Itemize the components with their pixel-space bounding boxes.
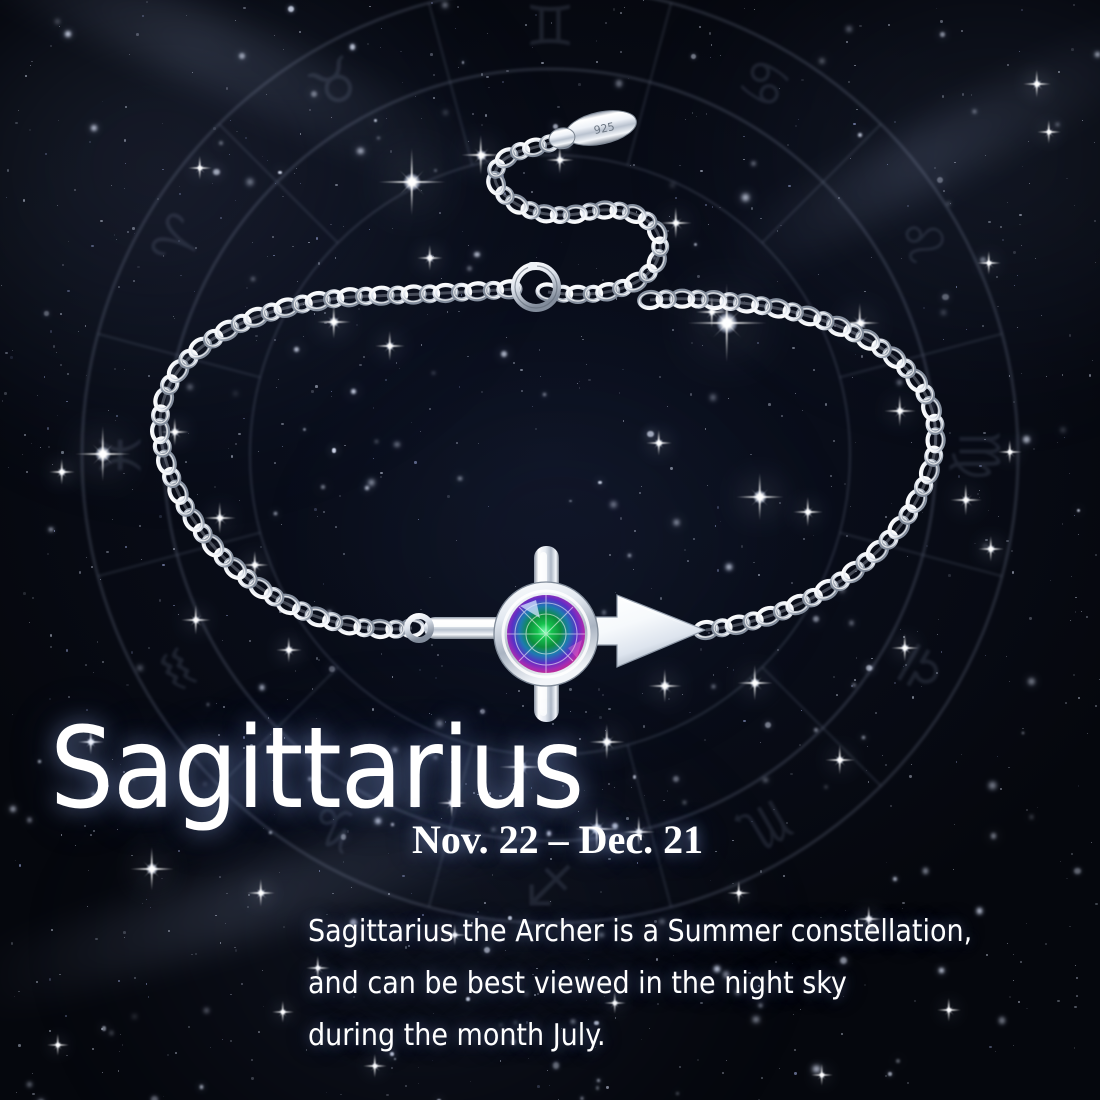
star xyxy=(394,442,400,448)
star xyxy=(541,62,544,65)
star xyxy=(60,470,62,472)
star xyxy=(1022,728,1023,729)
star xyxy=(547,1070,548,1071)
chain-link xyxy=(533,205,556,224)
star xyxy=(369,480,373,484)
star xyxy=(936,672,938,674)
chain-link xyxy=(354,619,374,636)
star xyxy=(705,204,707,206)
star xyxy=(50,646,51,647)
star-sparkle xyxy=(648,669,682,703)
star xyxy=(118,1070,120,1072)
star xyxy=(402,82,403,83)
star xyxy=(57,415,58,416)
star xyxy=(110,1031,114,1035)
star xyxy=(717,569,719,571)
chain-link xyxy=(920,396,943,422)
star xyxy=(620,12,622,14)
star xyxy=(744,8,745,9)
star-sparkle xyxy=(375,331,405,361)
star xyxy=(380,476,382,478)
star xyxy=(95,938,97,940)
star xyxy=(787,311,788,312)
star xyxy=(344,445,346,447)
star xyxy=(314,508,317,511)
star xyxy=(263,1006,264,1007)
star xyxy=(188,433,189,434)
star-sparkle xyxy=(727,881,751,905)
star xyxy=(300,183,301,184)
star xyxy=(131,855,132,856)
star xyxy=(222,1039,223,1040)
star xyxy=(60,364,62,366)
star xyxy=(235,20,236,21)
star-sparkle xyxy=(811,1064,833,1086)
chain-link xyxy=(212,546,235,569)
chain-link xyxy=(623,270,649,294)
star xyxy=(1071,48,1074,51)
star xyxy=(136,33,139,36)
star xyxy=(175,1052,177,1054)
star xyxy=(358,308,360,310)
star xyxy=(894,121,896,123)
star xyxy=(980,257,986,263)
star xyxy=(251,1077,253,1079)
star-sparkle xyxy=(977,251,1001,275)
star xyxy=(331,117,332,118)
star xyxy=(795,393,796,394)
star xyxy=(506,337,507,338)
star xyxy=(692,112,694,114)
star xyxy=(727,667,729,669)
chain-link xyxy=(389,287,407,302)
star xyxy=(1022,732,1024,734)
chain-link xyxy=(880,345,908,372)
star xyxy=(515,586,516,587)
star xyxy=(631,787,632,788)
star xyxy=(751,207,753,209)
star xyxy=(129,54,130,55)
star xyxy=(596,40,598,42)
star xyxy=(75,845,76,846)
star xyxy=(37,395,38,396)
star xyxy=(276,387,277,388)
star xyxy=(862,736,866,740)
star xyxy=(532,47,533,48)
star xyxy=(985,539,988,542)
star xyxy=(485,114,487,116)
star xyxy=(696,116,697,117)
star xyxy=(18,110,19,111)
star xyxy=(984,545,987,548)
star xyxy=(127,231,129,233)
star xyxy=(1086,616,1088,618)
star xyxy=(750,454,752,456)
star xyxy=(264,319,265,320)
star xyxy=(518,675,519,676)
star xyxy=(112,519,114,521)
star xyxy=(484,902,486,904)
star xyxy=(467,266,472,271)
chain-link xyxy=(522,137,546,158)
star xyxy=(643,0,644,1)
star xyxy=(938,619,940,621)
star xyxy=(124,188,125,189)
star xyxy=(722,1072,724,1074)
star xyxy=(979,490,980,491)
star xyxy=(159,599,161,601)
star xyxy=(943,190,945,192)
chain-link xyxy=(580,203,600,220)
star xyxy=(185,461,187,463)
star xyxy=(818,274,819,275)
chain-link xyxy=(336,615,361,636)
star xyxy=(434,169,437,172)
star xyxy=(890,805,892,807)
star xyxy=(399,368,400,369)
star xyxy=(1006,656,1007,657)
zodiac-glyph-pisces: ♓ xyxy=(90,430,155,480)
star-sparkle xyxy=(696,296,728,328)
star xyxy=(991,833,996,838)
star xyxy=(691,342,693,344)
star xyxy=(1012,571,1014,573)
chain-link xyxy=(152,386,175,412)
chain-link xyxy=(637,262,659,284)
star xyxy=(503,658,505,660)
star xyxy=(435,677,437,679)
star xyxy=(1092,360,1093,361)
star xyxy=(641,486,642,487)
star xyxy=(28,818,32,822)
star xyxy=(871,257,872,258)
chain-link xyxy=(180,507,206,535)
chain-link xyxy=(784,592,811,616)
star xyxy=(754,9,755,10)
star xyxy=(768,403,771,406)
star xyxy=(885,1075,887,1077)
star xyxy=(1035,258,1036,259)
star xyxy=(586,364,587,365)
star xyxy=(871,658,873,660)
chain-link xyxy=(839,558,867,585)
star xyxy=(596,61,598,63)
chain-link xyxy=(191,521,214,544)
star xyxy=(226,615,228,617)
star xyxy=(274,462,276,464)
star xyxy=(377,137,380,140)
star xyxy=(459,386,460,387)
star xyxy=(388,853,389,854)
star xyxy=(1074,1006,1076,1008)
star xyxy=(162,564,164,566)
star xyxy=(802,410,804,412)
star xyxy=(1082,120,1083,121)
star xyxy=(332,448,337,453)
star xyxy=(504,192,506,194)
star xyxy=(620,517,622,519)
star xyxy=(311,91,317,97)
star xyxy=(988,510,989,511)
star xyxy=(850,506,851,507)
star-sparkle xyxy=(130,847,174,891)
star xyxy=(432,372,435,375)
star xyxy=(18,1044,21,1047)
star xyxy=(868,781,869,782)
star xyxy=(550,901,551,902)
star xyxy=(875,712,877,714)
star-sparkle xyxy=(840,303,880,343)
star xyxy=(1019,51,1020,52)
star xyxy=(982,325,984,327)
star xyxy=(90,834,92,836)
star xyxy=(885,764,887,766)
star xyxy=(283,49,284,50)
star xyxy=(282,196,283,197)
chain-link xyxy=(554,286,572,301)
star xyxy=(855,354,856,355)
star xyxy=(230,994,232,996)
star xyxy=(779,1068,780,1069)
star xyxy=(414,461,416,463)
star xyxy=(997,306,998,307)
star xyxy=(297,281,298,282)
star xyxy=(134,977,136,979)
star xyxy=(461,294,463,296)
star xyxy=(54,530,55,531)
star xyxy=(67,373,69,375)
star xyxy=(173,316,174,317)
star xyxy=(720,521,721,522)
star xyxy=(32,1073,33,1074)
star xyxy=(92,1048,94,1050)
star xyxy=(119,1051,120,1052)
star xyxy=(611,502,616,507)
star xyxy=(114,234,115,235)
chain-link xyxy=(453,284,472,300)
chain-link xyxy=(612,279,633,298)
star xyxy=(709,32,711,34)
star xyxy=(323,583,325,585)
star xyxy=(674,520,679,525)
star xyxy=(389,627,391,629)
star xyxy=(351,389,356,394)
star xyxy=(792,347,795,350)
star xyxy=(798,119,799,120)
star xyxy=(57,205,58,206)
star xyxy=(673,776,679,782)
star-sparkle xyxy=(998,440,1022,464)
star xyxy=(934,167,936,169)
star xyxy=(122,1044,124,1046)
star xyxy=(760,218,761,219)
zodiac-glyph-leo: ♌ xyxy=(880,203,961,279)
star xyxy=(487,33,488,34)
star xyxy=(598,688,601,691)
star xyxy=(50,330,52,332)
star xyxy=(226,87,228,89)
star xyxy=(766,608,768,610)
star xyxy=(235,443,237,445)
star xyxy=(783,875,785,877)
star xyxy=(1057,442,1058,443)
star xyxy=(598,481,602,485)
chain-link xyxy=(897,503,919,526)
star xyxy=(151,1096,158,1100)
star xyxy=(318,262,320,264)
star xyxy=(1091,842,1092,843)
star xyxy=(1075,597,1076,598)
star xyxy=(330,224,332,226)
star xyxy=(1095,52,1100,57)
star xyxy=(356,324,358,326)
star xyxy=(162,123,164,125)
chain-link xyxy=(466,282,489,300)
star xyxy=(481,124,483,126)
star xyxy=(194,291,195,292)
star xyxy=(163,1096,164,1097)
star xyxy=(710,57,711,58)
star xyxy=(715,525,717,527)
star xyxy=(813,369,815,371)
star xyxy=(671,183,674,186)
chain-link xyxy=(155,450,177,476)
star xyxy=(385,379,387,381)
chain-link xyxy=(870,337,893,359)
star-sparkle xyxy=(646,430,672,456)
star xyxy=(795,125,797,127)
star xyxy=(279,610,281,612)
star-sparkle xyxy=(461,135,501,175)
chain-link xyxy=(537,282,560,301)
chain-link xyxy=(925,446,943,466)
star xyxy=(1076,977,1078,979)
star xyxy=(124,139,127,142)
star xyxy=(520,369,522,371)
star xyxy=(779,502,781,504)
star xyxy=(419,669,421,671)
star xyxy=(633,569,634,570)
star-sparkle xyxy=(272,1001,294,1023)
star-sparkle xyxy=(978,536,1004,562)
chain-link xyxy=(926,429,944,452)
star xyxy=(501,351,507,357)
star xyxy=(579,387,581,389)
star xyxy=(947,202,950,205)
star xyxy=(148,375,150,377)
star xyxy=(241,983,243,985)
star xyxy=(602,610,607,615)
page-title: Sagittarius xyxy=(50,713,583,825)
chain-link xyxy=(304,606,330,629)
star xyxy=(576,135,578,137)
star xyxy=(235,200,236,201)
star xyxy=(429,577,431,579)
star xyxy=(605,22,607,24)
star xyxy=(937,634,938,635)
star xyxy=(833,676,835,678)
star xyxy=(523,172,525,174)
star xyxy=(672,329,674,331)
star xyxy=(852,377,853,378)
star xyxy=(335,257,337,259)
star xyxy=(49,528,53,532)
star xyxy=(311,390,313,392)
tag-stamp-text: 925 xyxy=(593,120,616,137)
star xyxy=(433,97,435,99)
star xyxy=(427,314,428,315)
star xyxy=(962,93,964,95)
chain-link xyxy=(903,487,928,514)
star xyxy=(236,131,237,132)
star xyxy=(239,53,245,59)
star xyxy=(950,203,951,204)
star xyxy=(295,670,297,672)
star xyxy=(89,141,91,143)
star xyxy=(125,163,126,164)
star xyxy=(118,286,120,288)
star xyxy=(820,59,824,63)
chain-link xyxy=(274,592,301,617)
chain-link xyxy=(639,291,662,310)
star xyxy=(687,560,689,562)
star xyxy=(123,931,126,934)
chain-link xyxy=(918,458,941,484)
star xyxy=(118,980,120,982)
star xyxy=(388,893,390,895)
star xyxy=(647,270,648,271)
star xyxy=(456,540,457,541)
star xyxy=(173,605,174,606)
star xyxy=(856,657,858,659)
star xyxy=(1073,4,1075,6)
star xyxy=(953,869,954,870)
chain xyxy=(151,128,944,639)
star xyxy=(462,61,465,64)
star xyxy=(634,530,636,532)
star xyxy=(702,345,703,346)
chain-link xyxy=(671,291,693,308)
star xyxy=(308,242,310,244)
star xyxy=(100,579,101,580)
chain-link xyxy=(567,286,588,302)
chain-link xyxy=(164,357,191,385)
chain-link xyxy=(221,555,249,582)
star xyxy=(741,545,743,547)
star xyxy=(940,20,942,22)
star xyxy=(628,78,629,79)
star xyxy=(1070,620,1071,621)
star xyxy=(251,1059,254,1062)
star xyxy=(161,878,162,879)
star xyxy=(238,433,240,435)
star xyxy=(689,712,691,714)
star xyxy=(1019,214,1021,216)
star xyxy=(381,28,382,29)
star xyxy=(458,311,459,312)
star xyxy=(146,983,148,985)
star xyxy=(903,666,904,667)
chain-link xyxy=(306,291,330,311)
star xyxy=(444,111,447,114)
star xyxy=(1021,9,1023,11)
star xyxy=(753,562,754,563)
star xyxy=(115,420,116,421)
star xyxy=(543,393,546,396)
star xyxy=(47,427,49,429)
star xyxy=(838,197,840,199)
star xyxy=(439,212,441,214)
